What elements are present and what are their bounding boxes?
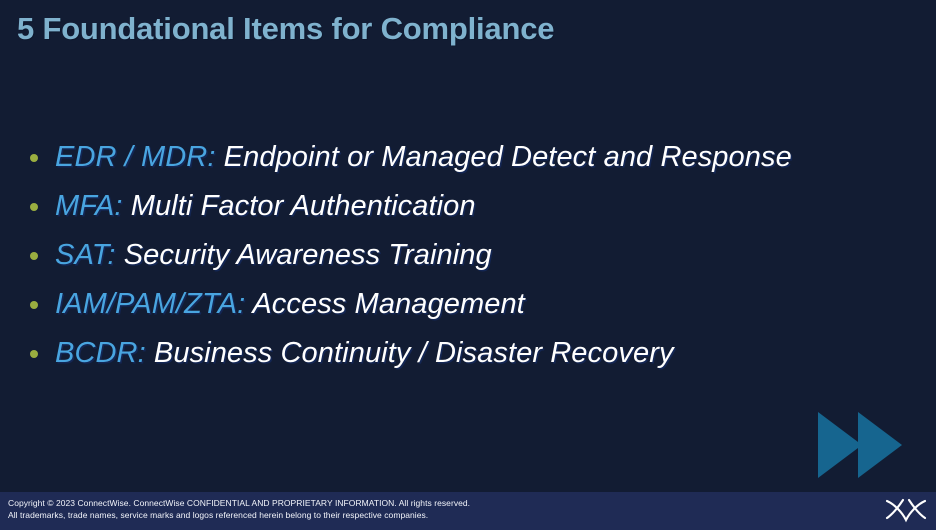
- bullet-dot-icon: [30, 301, 38, 309]
- copyright-line-1: Copyright © 2023 ConnectWise. ConnectWis…: [8, 498, 470, 510]
- list-item-text: MFA: Multi Factor Authentication: [55, 190, 476, 223]
- list-item: BCDR: Business Continuity / Disaster Rec…: [22, 329, 922, 378]
- list-item-description: Security Awareness Training: [116, 239, 492, 271]
- bullet-dot-icon: [30, 350, 38, 358]
- list-item: IAM/PAM/ZTA: Access Management: [22, 280, 922, 329]
- bullet-dot-icon: [30, 203, 38, 211]
- slide-canvas: 5 Foundational Items for Compliance EDR …: [0, 0, 936, 530]
- list-item-key: SAT:: [55, 239, 116, 271]
- list-item-description: Access Management: [245, 288, 525, 320]
- fast-forward-icon: [816, 410, 904, 480]
- connectwise-logo: [884, 498, 928, 524]
- copyright-text: Copyright © 2023 ConnectWise. ConnectWis…: [8, 498, 470, 521]
- list-item: SAT: Security Awareness Training: [22, 231, 922, 280]
- list-item-description: Multi Factor Authentication: [123, 190, 476, 222]
- list-item-description: Endpoint or Managed Detect and Response: [216, 141, 792, 173]
- bullet-dot-icon: [30, 252, 38, 260]
- list-item: MFA: Multi Factor Authentication: [22, 182, 922, 231]
- list-item-description: Business Continuity / Disaster Recovery: [146, 337, 674, 369]
- list-item-key: MFA:: [55, 190, 123, 222]
- page-title: 5 Foundational Items for Compliance: [17, 11, 554, 47]
- list-item-text: EDR / MDR: Endpoint or Managed Detect an…: [55, 141, 792, 174]
- bullet-dot-icon: [30, 154, 38, 162]
- list-item-key: IAM/PAM/ZTA:: [55, 288, 245, 320]
- list-item-text: SAT: Security Awareness Training: [55, 239, 492, 272]
- list-item-text: IAM/PAM/ZTA: Access Management: [55, 288, 525, 321]
- foundational-items-list: EDR / MDR: Endpoint or Managed Detect an…: [22, 133, 922, 378]
- footer-bar: Copyright © 2023 ConnectWise. ConnectWis…: [0, 492, 936, 530]
- copyright-line-2: All trademarks, trade names, service mar…: [8, 510, 470, 522]
- list-item-key: EDR / MDR:: [55, 141, 216, 173]
- list-item-key: BCDR:: [55, 337, 146, 369]
- list-item: EDR / MDR: Endpoint or Managed Detect an…: [22, 133, 922, 182]
- list-item-text: BCDR: Business Continuity / Disaster Rec…: [55, 337, 674, 370]
